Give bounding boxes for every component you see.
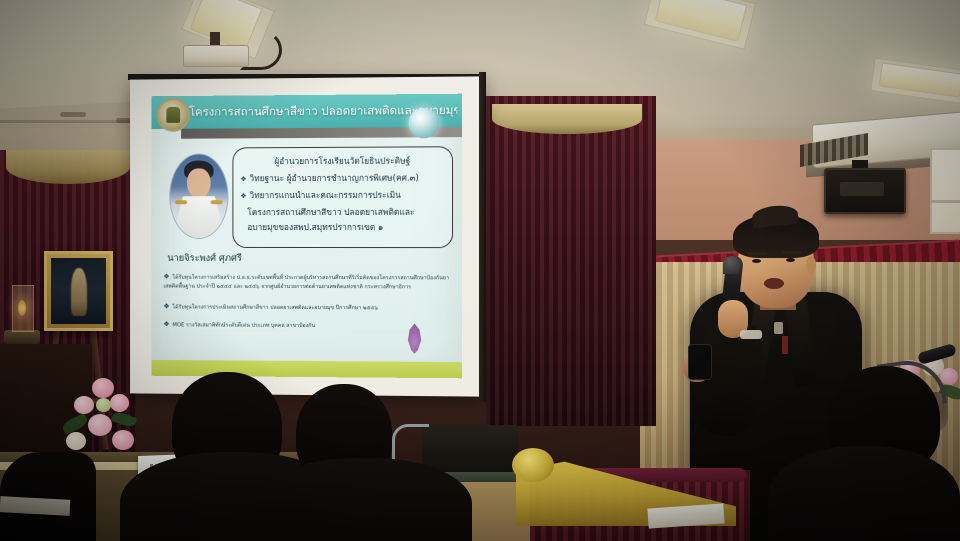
presenter-brow xyxy=(748,252,768,255)
candle-flame-icon xyxy=(18,300,26,316)
slide-box-bullet-row: ❖วิทยฐานะ ผู้อำนวยการชำนาญการพิเศษ(คศ.๓) xyxy=(233,171,452,186)
wall-speaker xyxy=(824,168,906,214)
slide-box-bullet-row: ❖วิทยากรแกนนำและคณะกรรมการประเมิน xyxy=(233,189,452,204)
flower-blossom xyxy=(66,432,86,450)
flower-blossom xyxy=(88,414,112,436)
presenter-pin-badge xyxy=(774,322,783,334)
bullet-icon: ❖ xyxy=(240,175,246,183)
projector-cable xyxy=(240,30,282,70)
slide-box-line: อบายมุขของสพป.สมุทรปราการเขต ๑ xyxy=(233,221,452,235)
microphone-grille-icon xyxy=(723,256,740,274)
slide-box-line: ผู้อำนวยการโรงเรียนวัดโยธินประดิษฐ์ xyxy=(233,154,452,169)
portrait-canvas xyxy=(51,258,106,324)
portrait-figure xyxy=(71,268,87,316)
bullet-icon: ❖ xyxy=(163,302,169,310)
gold-rosette xyxy=(512,448,554,482)
slide-box-line: วิทยากรแกนนำและคณะกรรมการประเมิน xyxy=(250,190,401,200)
presenter-eye xyxy=(786,258,795,262)
flower-blossom xyxy=(940,368,958,385)
valance-gold-left xyxy=(6,150,130,184)
screen-edge xyxy=(479,72,486,402)
slide-small-text: ได้รับทุนโครงการเสริมสร้าง ป.ล.ธ.ระดับเข… xyxy=(163,275,449,290)
audience-shoulders xyxy=(256,458,472,541)
slide-text-box: ผู้อำนวยการโรงเรียนวัดโยธินประดิษฐ์ ❖วิท… xyxy=(232,146,453,248)
candle-lamp-base xyxy=(4,330,40,344)
flower-blossom xyxy=(96,398,111,412)
slide-presenter-name: นายจิระพงศ์ ศุภศรี xyxy=(167,251,242,266)
flower-blossom xyxy=(112,430,134,450)
slide-portrait-photo xyxy=(169,153,228,239)
window xyxy=(930,148,960,234)
window-mullion xyxy=(930,200,960,203)
logo-inner-shape xyxy=(166,107,180,123)
presenter-ribbon xyxy=(782,336,788,354)
slide-small-bullet: ❖ได้รับทุนโครงการประเมินสถานศึกษาสีขาว ป… xyxy=(163,302,455,313)
ceiling-mark xyxy=(60,112,86,117)
flower-blossom xyxy=(110,394,129,412)
flower-blossom xyxy=(74,396,94,414)
slide-small-text: MOE รางวัลเสมาพิทักษ์ระดับดีเด่น ประเภท … xyxy=(173,322,316,329)
portrait-epaulet xyxy=(175,200,187,204)
slide-footer-band xyxy=(152,360,463,378)
slide-box-line: วิทยฐานะ ผู้อำนวยการชำนาญการพิเศษ(คศ.๓) xyxy=(250,172,419,183)
presenter-brow xyxy=(782,251,802,254)
presenter-wristwatch xyxy=(740,330,762,339)
presenter-clicker-device xyxy=(688,344,712,380)
framed-portrait xyxy=(44,251,113,331)
presenter-ear xyxy=(806,256,816,274)
speaker-sheen xyxy=(840,182,884,196)
bullet-icon: ❖ xyxy=(240,192,246,200)
presenter-mouth xyxy=(764,278,784,289)
valance-swag-center xyxy=(492,104,642,134)
bullet-icon: ❖ xyxy=(163,320,169,328)
slide-box-line: โครงการสถานศึกษาสีขาว ปลอดยาเสพติดและ xyxy=(233,206,452,220)
slide-small-text: ได้รับทุนโครงการประเมินสถานศึกษาสีขาว ปล… xyxy=(173,304,378,311)
ministry-logo-icon xyxy=(157,98,190,132)
audience-shoulders xyxy=(768,446,960,541)
portrait-epaulet xyxy=(211,200,223,204)
slide-small-bullet: ❖ได้รับทุนโครงการเสริมสร้าง ป.ล.ธ.ระดับเ… xyxy=(163,273,455,292)
slide-orb-graphic xyxy=(408,108,438,138)
presentation-slide: โครงการสถานศึกษาสีขาว ปลอดยาเสพติดและอบา… xyxy=(152,94,463,379)
portrait-face xyxy=(187,168,211,198)
bullet-icon: ❖ xyxy=(163,273,169,281)
presenter-eye xyxy=(752,259,761,263)
flower-blossom xyxy=(92,378,114,398)
curtain-dark-center xyxy=(486,96,656,426)
photo-scene: โครงการสถานศึกษาสีขาว ปลอดยาเสพติดและอบา… xyxy=(0,0,960,541)
